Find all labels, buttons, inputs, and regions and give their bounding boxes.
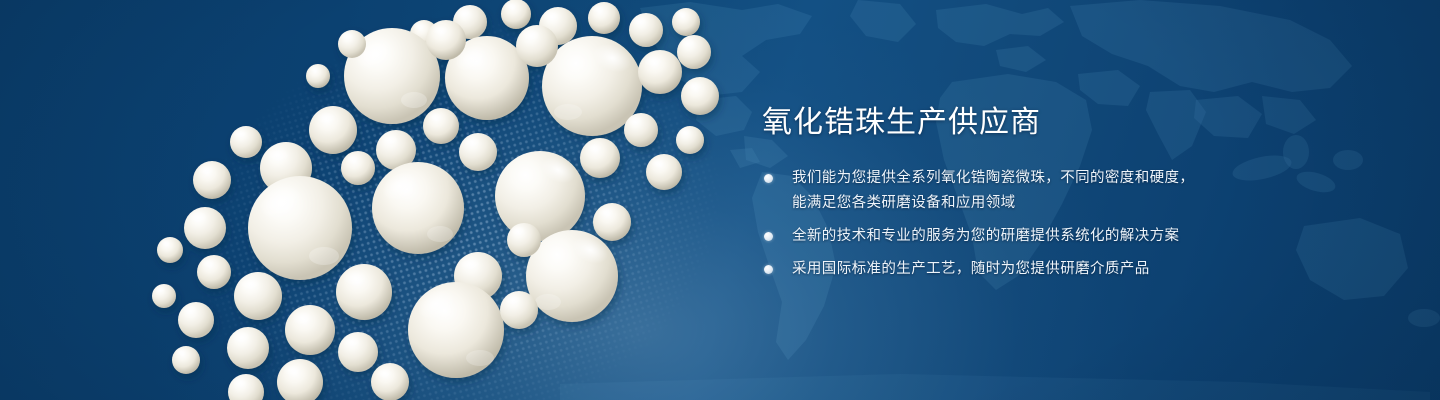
bullet-dot-icon (764, 265, 773, 274)
list-item: 全新的技术和专业的服务为您的研磨提供系统化的解决方案 (762, 224, 1322, 248)
zirconia-beads-image (0, 0, 760, 400)
bullet-text: 我们能为您提供全系列氧化锆陶瓷微珠，不同的密度和硬度， (792, 166, 1322, 190)
banner-headline: 氧化锆珠生产供应商 (762, 104, 1322, 142)
banner-copy: 氧化锆珠生产供应商 我们能为您提供全系列氧化锆陶瓷微珠，不同的密度和硬度， 能满… (762, 104, 1322, 281)
list-item: 我们能为您提供全系列氧化锆陶瓷微珠，不同的密度和硬度， 能满足您各类研磨设备和应… (762, 166, 1322, 215)
benefits-list: 我们能为您提供全系列氧化锆陶瓷微珠，不同的密度和硬度， 能满足您各类研磨设备和应… (762, 166, 1322, 281)
bullet-text: 全新的技术和专业的服务为您的研磨提供系统化的解决方案 (792, 224, 1322, 248)
bullet-text: 能满足您各类研磨设备和应用领域 (792, 191, 1322, 215)
bullet-dot-icon (764, 174, 773, 183)
bullet-text: 采用国际标准的生产工艺，随时为您提供研磨介质产品 (792, 257, 1322, 281)
bullet-dot-icon (764, 232, 773, 241)
list-item: 采用国际标准的生产工艺，随时为您提供研磨介质产品 (762, 257, 1322, 281)
hero-banner: 氧化锆珠生产供应商 我们能为您提供全系列氧化锆陶瓷微珠，不同的密度和硬度， 能满… (0, 0, 1440, 400)
